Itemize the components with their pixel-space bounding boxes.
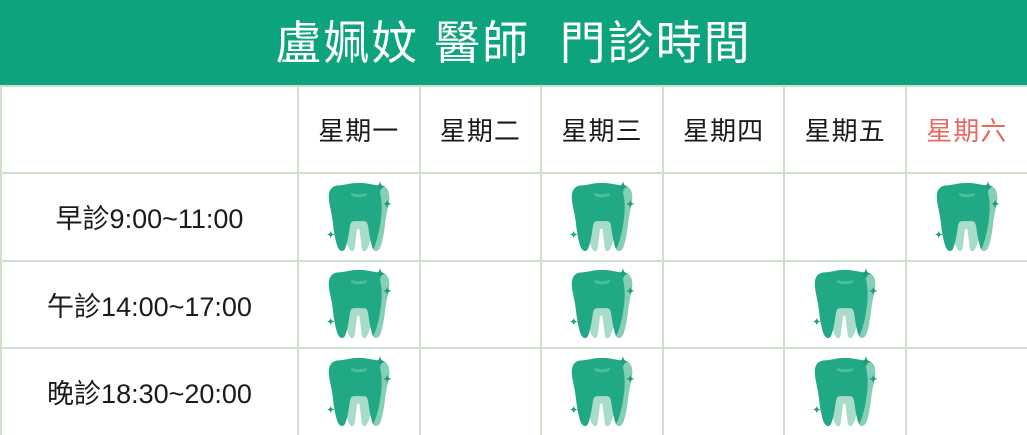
table-row: 晚診18:30~20:00 (1, 348, 1027, 435)
slot-afternoon-wednesday (541, 261, 663, 349)
table-corner-cell (1, 86, 298, 173)
clinic-schedule-page: 盧姵妏 醫師 門診時間 星期一 星期二 星期三 星期四 星期五 星期六 (0, 0, 1027, 435)
row-label-afternoon: 午診14:00~17:00 (1, 261, 298, 349)
slot-evening-monday (298, 348, 420, 435)
tooth-icon (323, 354, 395, 430)
column-header-tuesday: 星期二 (420, 86, 542, 173)
column-header-monday: 星期一 (298, 86, 420, 173)
tooth-icon (323, 179, 395, 255)
row-label-morning: 早診9:00~11:00 (1, 173, 298, 261)
slot-evening-wednesday (541, 348, 663, 435)
column-header-wednesday: 星期三 (541, 86, 663, 173)
page-title: 盧姵妏 醫師 門診時間 (275, 20, 751, 66)
column-header-friday: 星期五 (784, 86, 906, 173)
table-row: 午診14:00~17:00 (1, 261, 1027, 349)
column-header-thursday: 星期四 (663, 86, 785, 173)
slot-morning-thursday (663, 173, 785, 261)
schedule-table-head: 星期一 星期二 星期三 星期四 星期五 星期六 (1, 86, 1027, 173)
row-label-evening: 晚診18:30~20:00 (1, 348, 298, 435)
slot-morning-friday (784, 173, 906, 261)
slot-afternoon-monday (298, 261, 420, 349)
slot-morning-tuesday (420, 173, 542, 261)
slot-afternoon-thursday (663, 261, 785, 349)
slot-morning-monday (298, 173, 420, 261)
tooth-icon (566, 354, 638, 430)
slot-afternoon-saturday (906, 261, 1027, 349)
tooth-icon (566, 179, 638, 255)
tooth-icon (323, 266, 395, 342)
schedule-table-container: 星期一 星期二 星期三 星期四 星期五 星期六 早診9:00~11:00 (0, 85, 1027, 435)
table-header-row: 星期一 星期二 星期三 星期四 星期五 星期六 (1, 86, 1027, 173)
slot-morning-wednesday (541, 173, 663, 261)
schedule-table-body: 早診9:00~11:00 (1, 173, 1027, 435)
tooth-icon (566, 266, 638, 342)
tooth-icon (931, 179, 1003, 255)
slot-evening-friday (784, 348, 906, 435)
tooth-icon (809, 354, 881, 430)
table-row: 早診9:00~11:00 (1, 173, 1027, 261)
slot-evening-saturday (906, 348, 1027, 435)
slot-afternoon-friday (784, 261, 906, 349)
column-header-saturday: 星期六 (906, 86, 1027, 173)
page-title-banner: 盧姵妏 醫師 門診時間 (0, 0, 1027, 85)
slot-morning-saturday (906, 173, 1027, 261)
slot-afternoon-tuesday (420, 261, 542, 349)
slot-evening-tuesday (420, 348, 542, 435)
slot-evening-thursday (663, 348, 785, 435)
schedule-table: 星期一 星期二 星期三 星期四 星期五 星期六 早診9:00~11:00 (0, 85, 1027, 435)
tooth-icon (809, 266, 881, 342)
